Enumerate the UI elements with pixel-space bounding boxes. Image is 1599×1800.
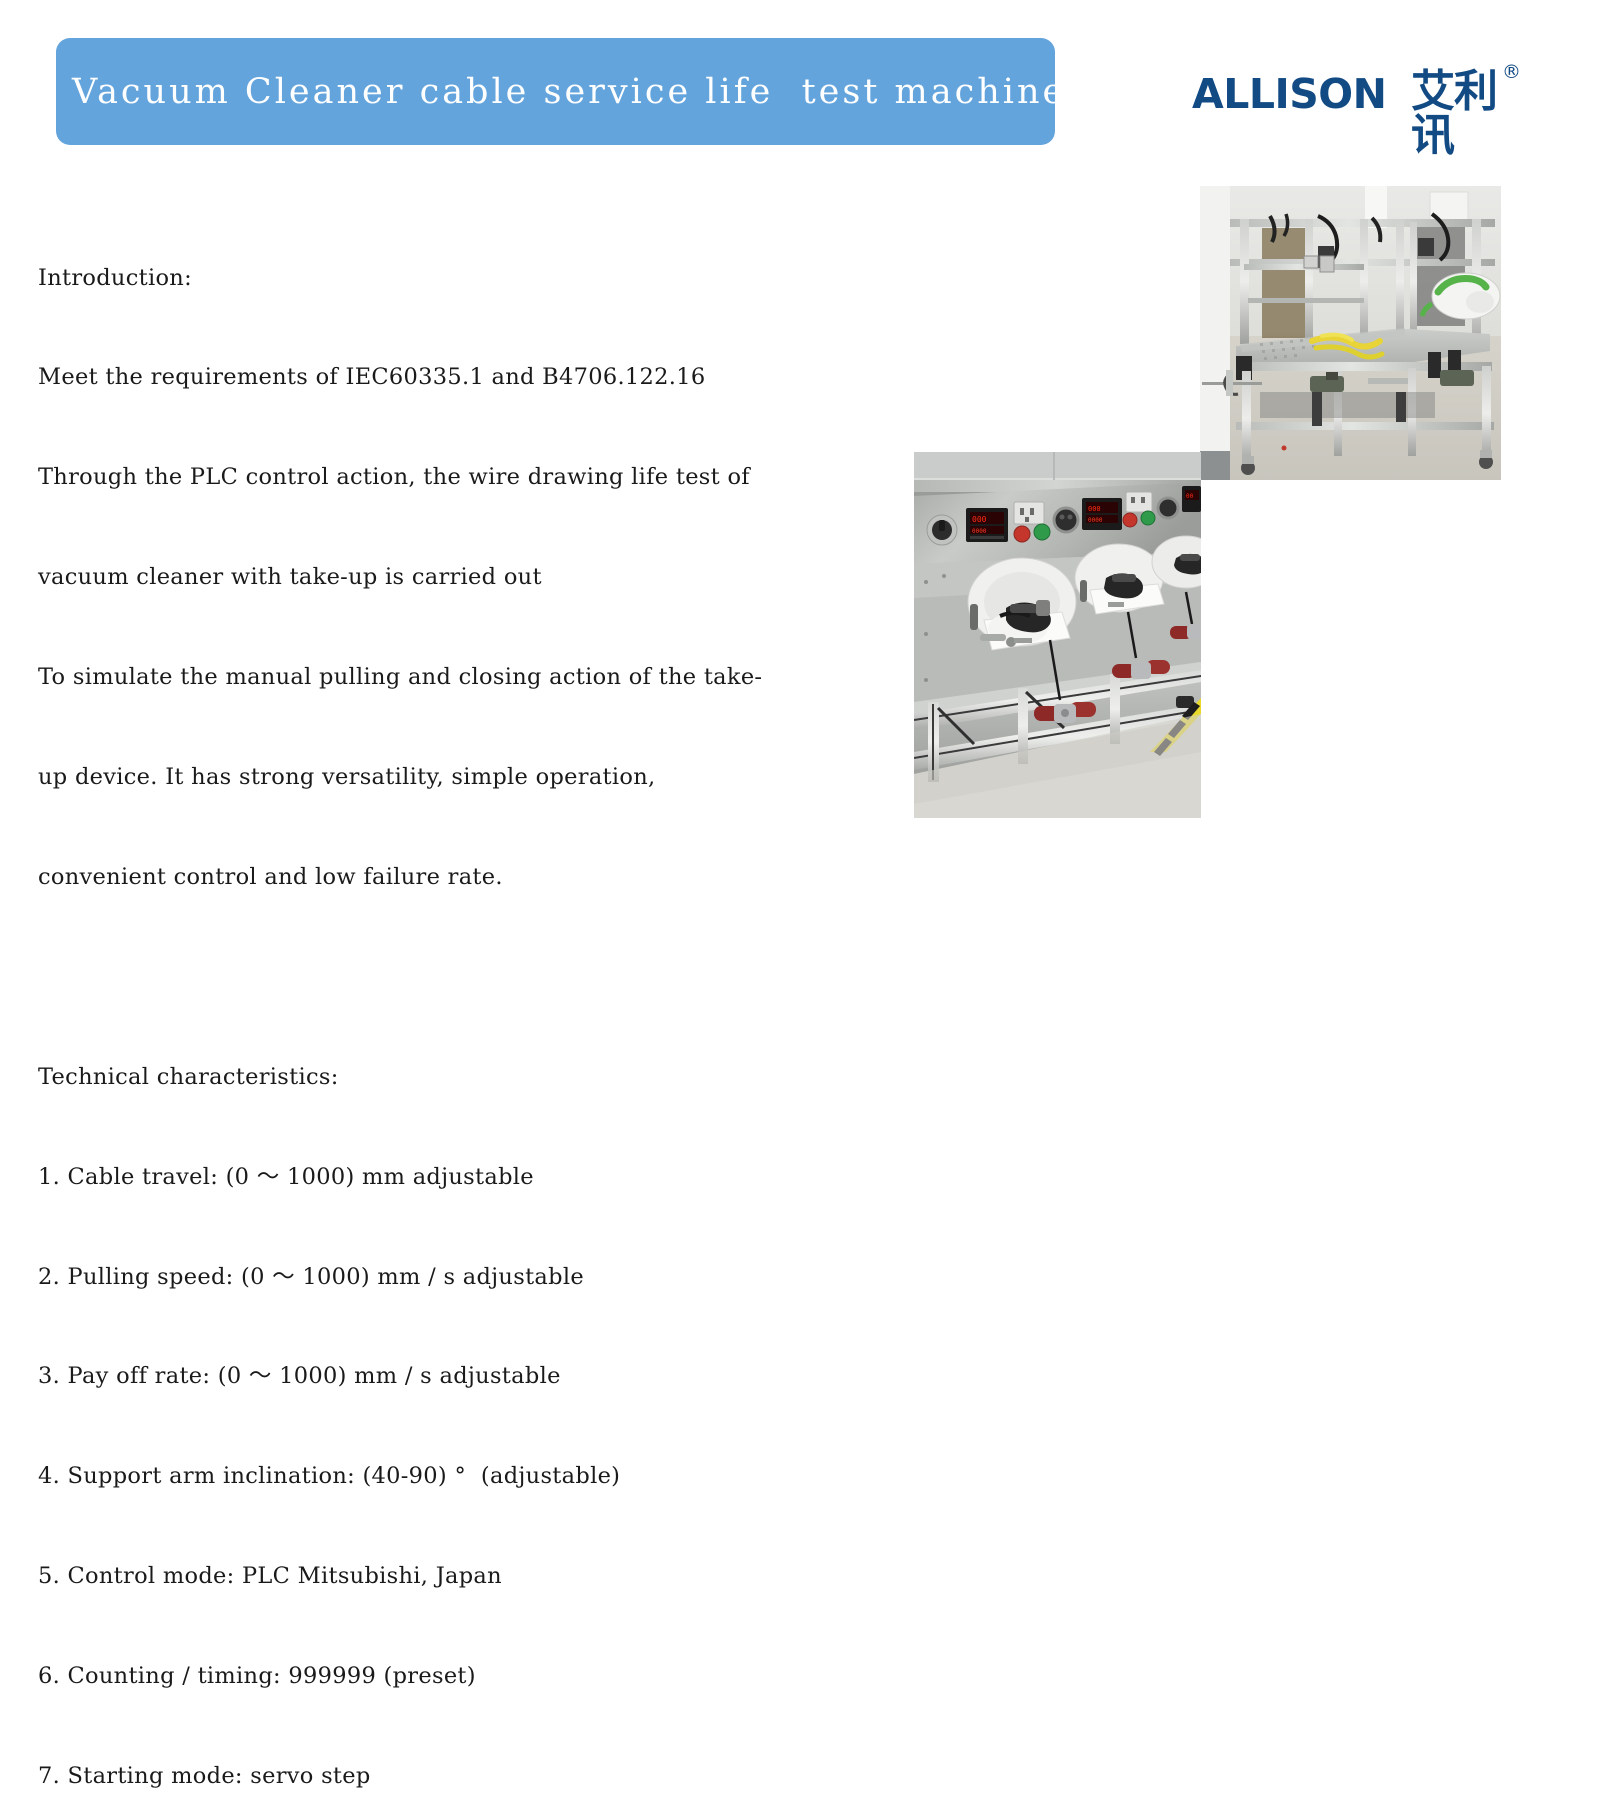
machine-photo-overview	[1200, 186, 1501, 480]
svg-text:0000: 0000	[1088, 517, 1103, 524]
svg-text:0000: 0000	[972, 528, 987, 535]
spec-line: 7. Starting mode: servo step	[38, 1760, 918, 1793]
title-banner: Vacuum Cleaner cable service life test m…	[56, 38, 1055, 145]
machine-photo-overview-image	[1200, 186, 1501, 480]
spec-line: 2. Pulling speed: (0 ～ 1000) mm / s adju…	[38, 1261, 918, 1294]
logo-latin-text: ALLISON	[1192, 74, 1386, 115]
spec-line: 1. Cable travel: (0 ～ 1000) mm adjustabl…	[38, 1161, 918, 1194]
spec-line: 3. Pay off rate: (0 ～ 1000) mm / s adjus…	[38, 1360, 918, 1393]
intro-line: To simulate the manual pulling and closi…	[38, 661, 918, 694]
intro-heading: Introduction:	[38, 262, 918, 295]
specs-heading: Technical characteristics:	[38, 1061, 918, 1094]
svg-text:000: 000	[1088, 505, 1101, 513]
intro-line: vacuum cleaner with take-up is carried o…	[38, 561, 918, 594]
spec-line: 4. Support arm inclination: (40-90) ° (a…	[38, 1460, 918, 1493]
paragraph-spacer	[38, 961, 918, 994]
machine-photo-control-panel: 000 0000 000 0000	[914, 452, 1201, 818]
svg-text:000: 000	[972, 515, 987, 524]
intro-line: up device. It has strong versatility, si…	[38, 761, 918, 794]
svg-text:00: 00	[1186, 493, 1194, 500]
intro-line: convenient control and low failure rate.	[38, 861, 918, 894]
intro-line: Through the PLC control action, the wire…	[38, 461, 918, 494]
intro-line: Meet the requirements of IEC60335.1 and …	[38, 361, 918, 394]
machine-photo-control-panel-image: 000 0000 000 0000	[914, 452, 1201, 818]
registered-trademark-icon: ®	[1502, 63, 1521, 82]
brand-logo: ALLISON 艾利讯 ®	[1192, 60, 1532, 140]
page-title: Vacuum Cleaner cable service life test m…	[56, 72, 1066, 112]
slide-page: Vacuum Cleaner cable service life test m…	[0, 0, 1599, 900]
spec-line: 5. Control mode: PLC Mitsubishi, Japan	[38, 1560, 918, 1593]
description-block: Introduction: Meet the requirements of I…	[38, 195, 918, 1800]
spec-line: 6. Counting / timing: 999999 (preset)	[38, 1660, 918, 1693]
logo-chinese-text: 艾利讯	[1411, 70, 1532, 158]
